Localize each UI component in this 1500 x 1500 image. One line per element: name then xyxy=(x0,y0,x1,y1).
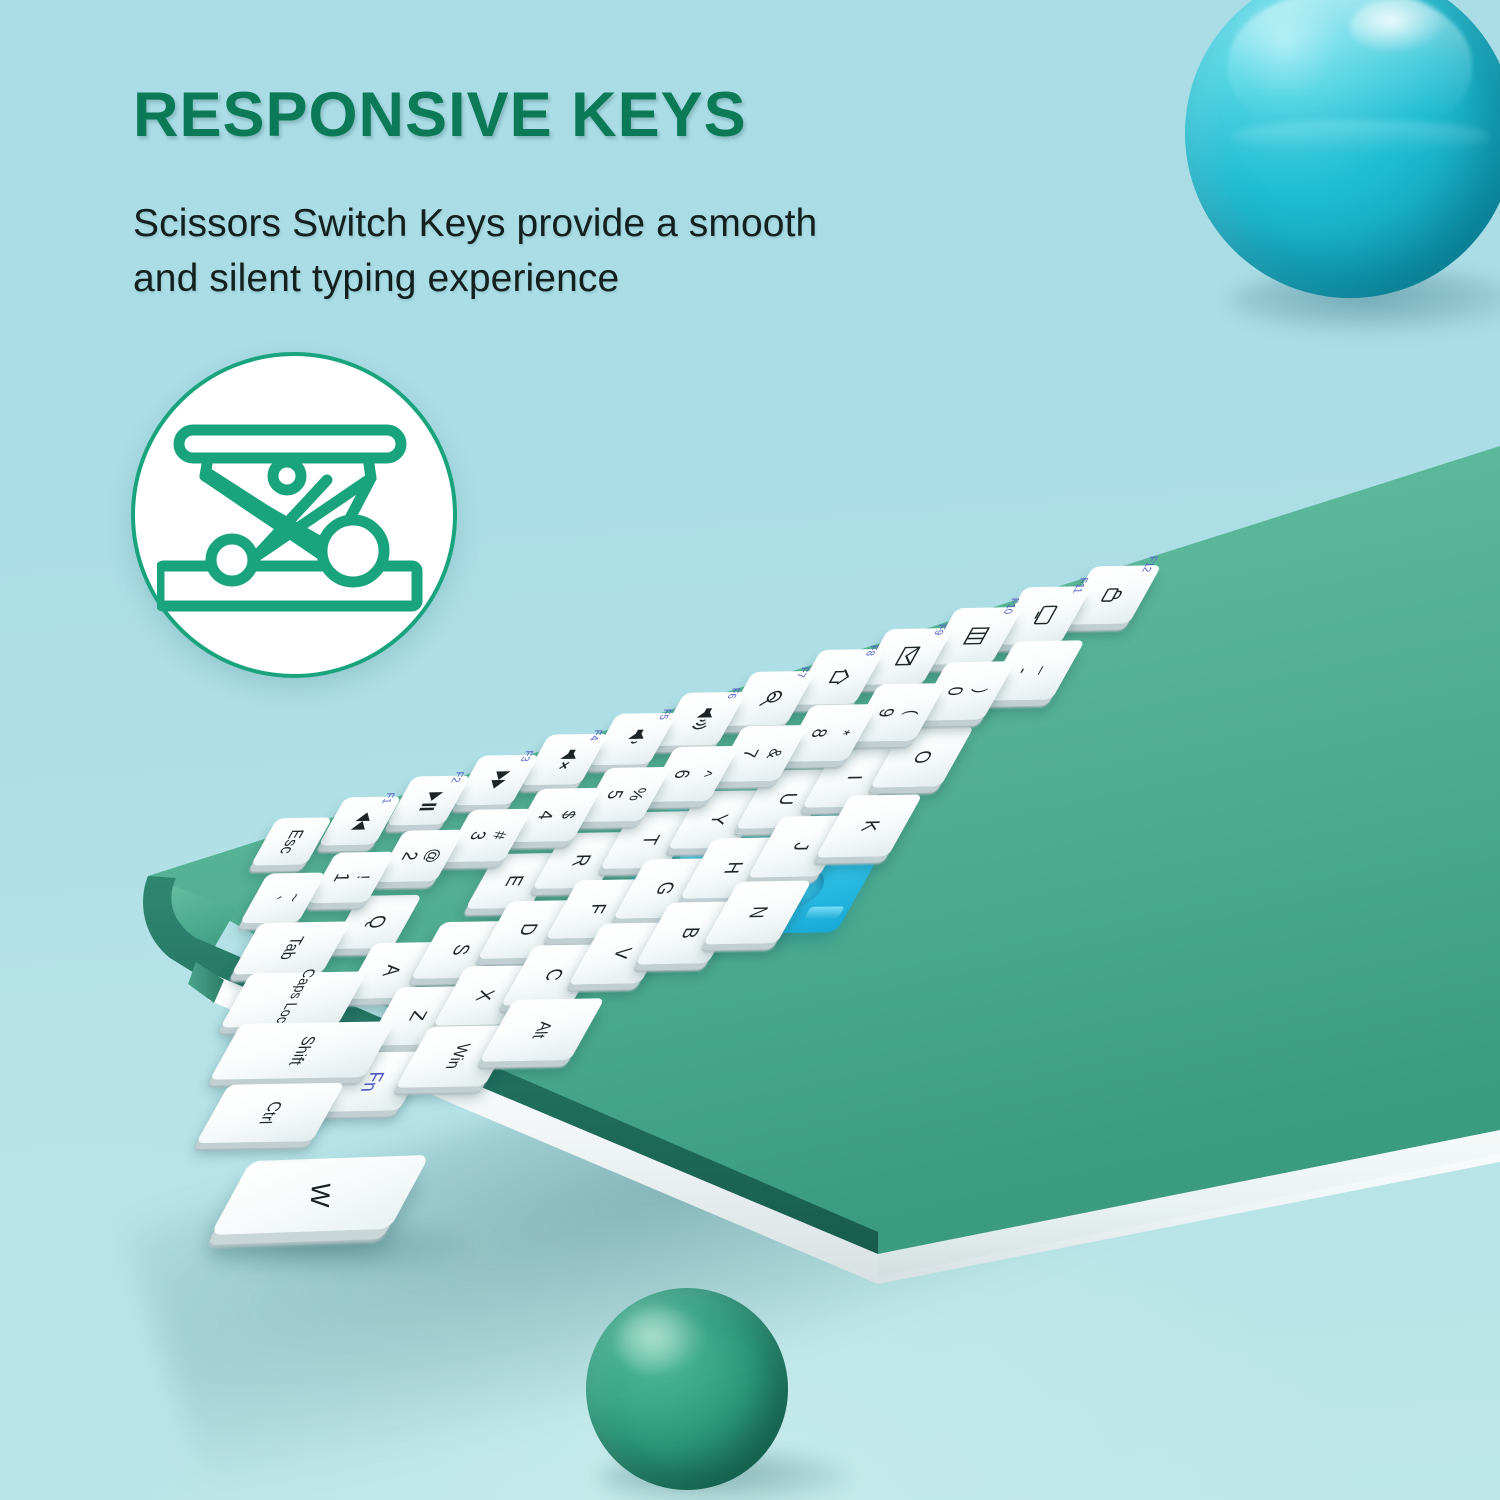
key-legend-upper: ^ xyxy=(693,770,717,777)
key-legend-lower: 1 xyxy=(326,872,353,881)
key-legend-upper: * xyxy=(831,729,854,735)
search-icon xyxy=(752,689,787,707)
key-legend-lower: 5 xyxy=(599,790,626,799)
key-legend-lower: 9 xyxy=(872,708,899,717)
key-legend-lower: - xyxy=(1009,668,1034,674)
email-icon xyxy=(890,647,922,666)
mute-icon xyxy=(548,748,582,771)
home-icon xyxy=(821,668,854,686)
key-legend-lower: 7 xyxy=(736,749,763,758)
key-legend-upper: ) xyxy=(968,689,991,694)
key-legend-lower: 6 xyxy=(667,769,694,778)
key-legend-lower: 8 xyxy=(804,728,831,737)
lock-icon xyxy=(1094,587,1126,602)
prev-track-icon xyxy=(344,812,376,831)
play-pause-icon xyxy=(412,791,444,810)
apps-icon xyxy=(958,627,991,645)
key-legend-upper: $ xyxy=(556,811,581,819)
key-legend-upper: ~ xyxy=(281,893,306,902)
detached-keycap-label: W xyxy=(303,1182,336,1208)
key-legend-upper: _ xyxy=(1036,666,1061,674)
volume-down-icon xyxy=(617,728,650,749)
switch-clip-right xyxy=(804,906,845,919)
key-legend-lower: ` xyxy=(259,895,284,901)
key-legend-upper: # xyxy=(487,831,512,839)
display-icon xyxy=(1026,606,1059,625)
product-marketing-image: RESPONSIVE KEYS Scissors Switch Keys pro… xyxy=(0,0,1500,1500)
key-legend-upper: & xyxy=(761,748,787,758)
key-legend-upper: ! xyxy=(351,874,373,878)
volume-up-icon xyxy=(684,707,718,731)
key-legend-upper: ( xyxy=(900,709,923,714)
next-track-icon xyxy=(481,771,513,790)
key-legend-lower: 4 xyxy=(531,811,558,820)
key-legend-lower: 0 xyxy=(940,687,967,696)
